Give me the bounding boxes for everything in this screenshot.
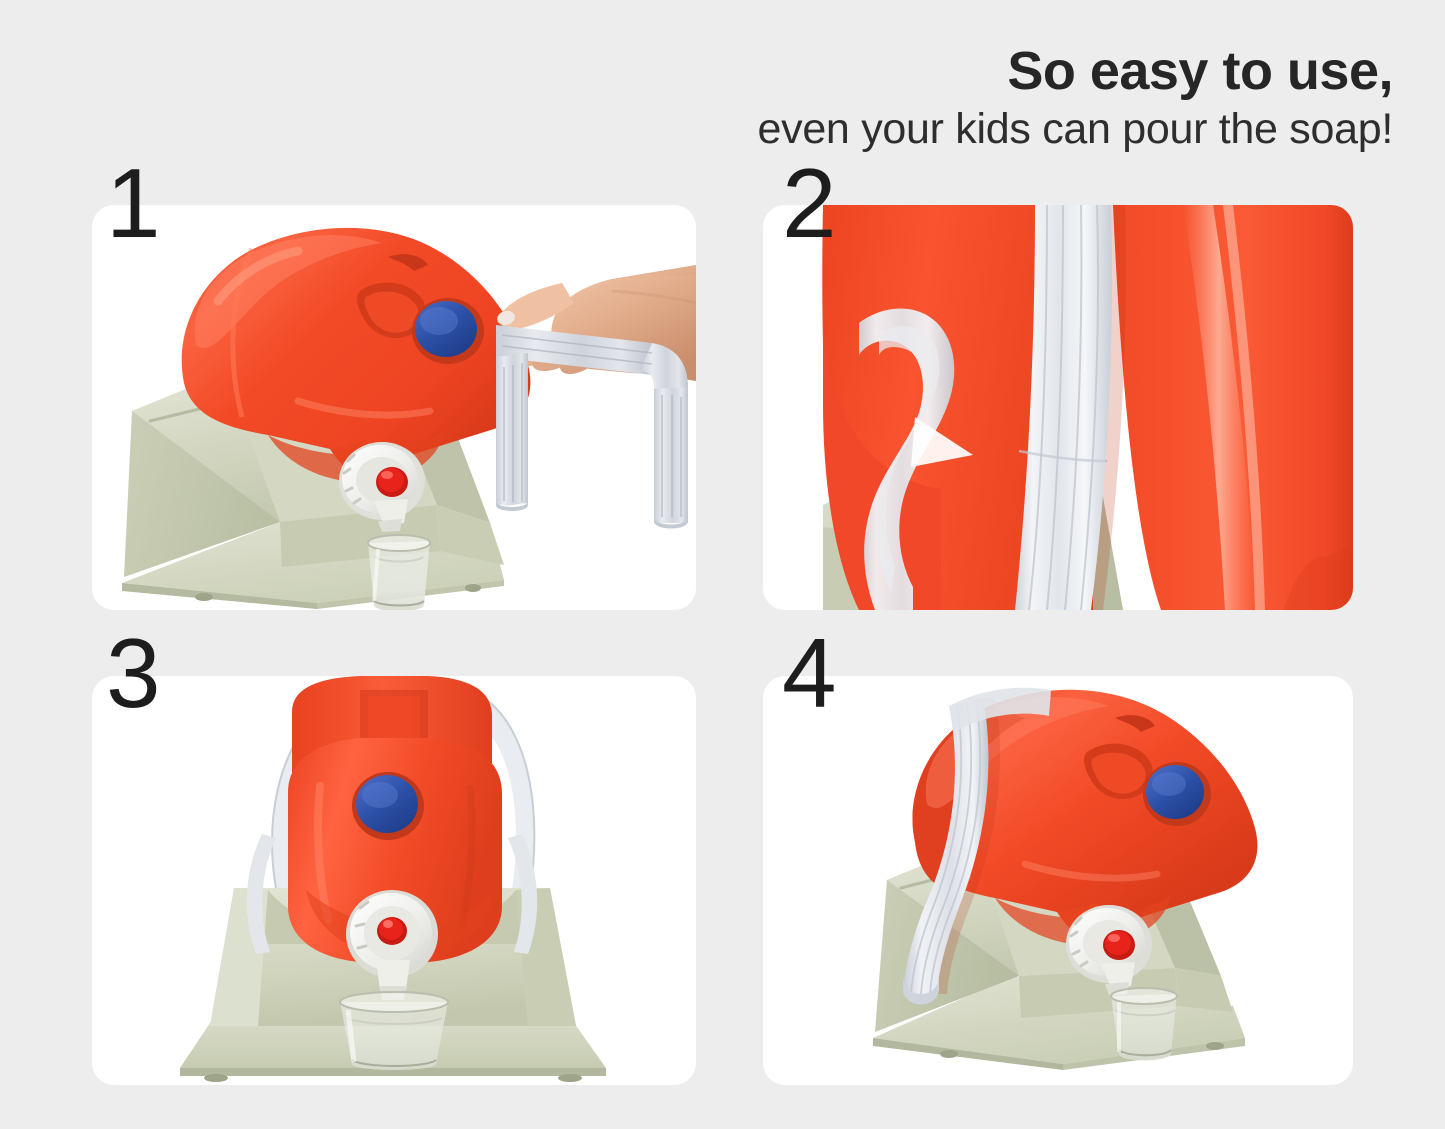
step-panel-1 [92, 205, 696, 610]
step-number-3: 3 [106, 633, 161, 713]
step-panel-2-clip [763, 205, 1353, 610]
step-panel-4-clip [763, 676, 1353, 1085]
step-panel-3 [92, 676, 696, 1085]
step-4-illustration [763, 676, 1353, 1085]
step-panel-2 [763, 205, 1353, 610]
step-panel-1-clip [92, 205, 696, 610]
step-number-2: 2 [782, 163, 837, 243]
step-panel-4 [763, 676, 1353, 1085]
step-number-1: 1 [106, 163, 161, 243]
headline-line-1: So easy to use, [758, 42, 1394, 101]
step-2-illustration [763, 205, 1353, 610]
step-3-illustration [92, 676, 696, 1085]
step-panel-3-clip [92, 676, 696, 1085]
headline: So easy to use, even your kids can pour … [758, 42, 1394, 157]
step-1-illustration [92, 205, 696, 610]
hand-group [495, 265, 696, 529]
step-number-4: 4 [782, 633, 837, 713]
headline-line-2: even your kids can pour the soap! [758, 103, 1394, 157]
